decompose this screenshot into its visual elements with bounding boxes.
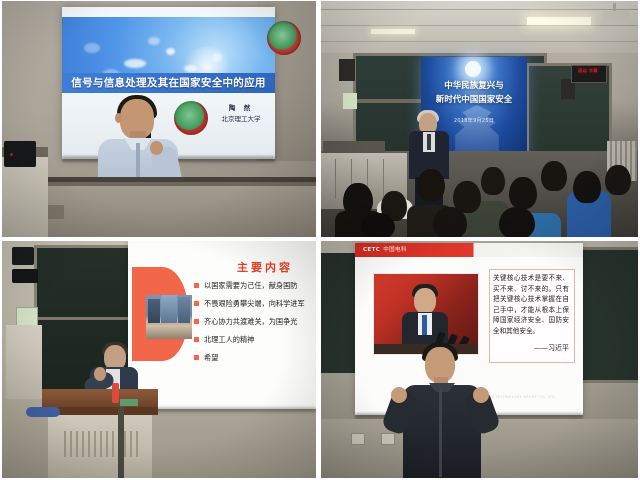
slide-title-3: 主要内容	[218, 259, 312, 275]
wall-vent	[46, 205, 64, 219]
building-photo-frame	[146, 295, 192, 339]
audience-head	[343, 183, 373, 217]
wall-pillar	[6, 325, 42, 399]
audience-head	[573, 171, 601, 203]
cetc-chinese-name: 中国电科	[383, 247, 407, 253]
wall-device	[12, 269, 38, 283]
speaker-hand	[150, 141, 163, 155]
ceiling-grid-line	[321, 25, 638, 26]
presenter-affiliation: 北京理工大学	[206, 114, 276, 125]
building-tower	[178, 297, 190, 323]
photo-collage: 信号与信息处理及其在国家安全中的应用 陶 然 北京理工大学	[0, 0, 640, 480]
blue-object	[26, 407, 60, 417]
audience-head	[499, 207, 535, 237]
ceiling-grid-line	[321, 41, 638, 42]
bullet-item: 以国家需要为己任，献身国防	[204, 281, 297, 290]
portrait-tie	[422, 315, 427, 335]
water-bottle	[112, 383, 119, 403]
bullet-marker	[194, 283, 199, 288]
slide-title-2: 中华民族复兴与 新时代中国国家安全	[421, 79, 527, 107]
quote-attribution: ——习近平	[493, 343, 569, 353]
building-base	[146, 325, 192, 339]
building-tower	[148, 299, 160, 323]
audience-head	[361, 213, 395, 237]
wall-socket	[351, 433, 365, 445]
speaker-hand-right	[473, 387, 489, 403]
moon-glow	[465, 61, 481, 77]
ceiling-light	[371, 29, 415, 34]
panel-top-left: 信号与信息处理及其在国家安全中的应用 陶 然 北京理工大学	[2, 1, 316, 237]
speaker-tie	[427, 134, 431, 150]
audience-head	[417, 169, 445, 201]
cetc-logo: CETC中国电科	[363, 245, 407, 255]
building-photo	[146, 295, 192, 339]
building-tower	[161, 295, 177, 323]
cetc-wordmark: CETC	[363, 247, 380, 253]
lectern-top	[42, 389, 158, 407]
power-led-icon	[10, 153, 13, 156]
cabinet-vents	[64, 431, 138, 457]
bubble-decoration	[166, 48, 175, 55]
presenter-name: 陶 然	[206, 103, 276, 114]
bullet-marker	[194, 355, 199, 360]
speaker-hand	[94, 367, 106, 381]
locker-divider	[383, 159, 384, 199]
bubble-decoration	[124, 59, 146, 68]
jacket-zipper	[439, 389, 442, 477]
audience-head	[541, 161, 567, 191]
speaker-hand-left	[391, 387, 407, 403]
bit-emblem-icon	[267, 21, 301, 55]
panel-bottom-right: CETC中国电科 关键核心技术是要不来、买不来、讨不来的。只有把关键核心技术掌握…	[321, 241, 638, 478]
ceiling-light	[527, 17, 591, 25]
bullet-marker	[194, 301, 199, 306]
bullet-marker	[194, 337, 199, 342]
audience-head	[433, 207, 467, 237]
stand-pole	[118, 407, 124, 478]
bit-emblem-watermark-icon	[174, 101, 208, 135]
wall-socket	[381, 433, 395, 445]
led-sign-text: 滚动 字幕	[573, 68, 603, 73]
leader-portrait-photo	[373, 273, 479, 355]
audience-head	[605, 165, 631, 195]
audience-head	[509, 177, 537, 209]
temple-of-heaven-silhouette	[451, 105, 503, 157]
projection-screen-3: 主要内容 以国家需要为己任，献身国防 不畏艰险勇攀尖端，向科学进军 齐心协力共渡…	[128, 241, 316, 409]
slide-blue-banner	[62, 17, 275, 79]
desk-item	[120, 399, 138, 406]
slide-title-line2: 新时代中国国家安全	[421, 93, 527, 107]
control-monitor	[4, 141, 36, 167]
bullet-item: 齐心协力共渡难关，为国争光	[204, 317, 297, 326]
screen-top-edge	[62, 7, 275, 17]
locker-divider	[335, 159, 336, 199]
wall-monitor	[12, 247, 34, 265]
bullet-item: 希望	[204, 353, 218, 362]
bullet-marker	[194, 319, 199, 324]
bubble-decoration	[148, 37, 160, 45]
blackboard-right	[579, 247, 638, 383]
wall-speaker	[339, 59, 355, 81]
blackboard-rail	[34, 317, 128, 320]
slide-presenter-block: 陶 然 北京理工大学	[206, 103, 276, 125]
portrait-head	[414, 288, 436, 314]
slide-title-1: 信号与信息处理及其在国家安全中的应用	[62, 74, 275, 92]
bullet-item: 北理工人的精神	[204, 335, 254, 344]
bubble-decoration	[84, 43, 100, 53]
panel-top-right: 滚动 字幕 中华民族复兴与 新时代中国国家安全 2018年9月25日	[321, 1, 638, 237]
wall-notice	[343, 93, 357, 109]
bullet-item: 不畏艰险勇攀尖端，向科学进军	[204, 299, 305, 308]
audience-head	[481, 167, 505, 195]
panel-bottom-left: 主要内容 以国家需要为己任，献身国防 不畏艰险勇攀尖端，向科学进军 齐心协力共渡…	[2, 241, 316, 478]
speaker-ear	[115, 113, 122, 123]
quote-text: 关键核心技术是要不来、买不来、讨不来的。只有把关键核心技术掌握在自己手中，才能从…	[493, 273, 569, 336]
ceiling-grid-line	[321, 9, 638, 10]
projector	[603, 11, 629, 25]
slide-title-line1: 中华民族复兴与	[421, 79, 527, 93]
projection-screen-1: 信号与信息处理及其在国家安全中的应用 陶 然 北京理工大学	[62, 7, 275, 159]
